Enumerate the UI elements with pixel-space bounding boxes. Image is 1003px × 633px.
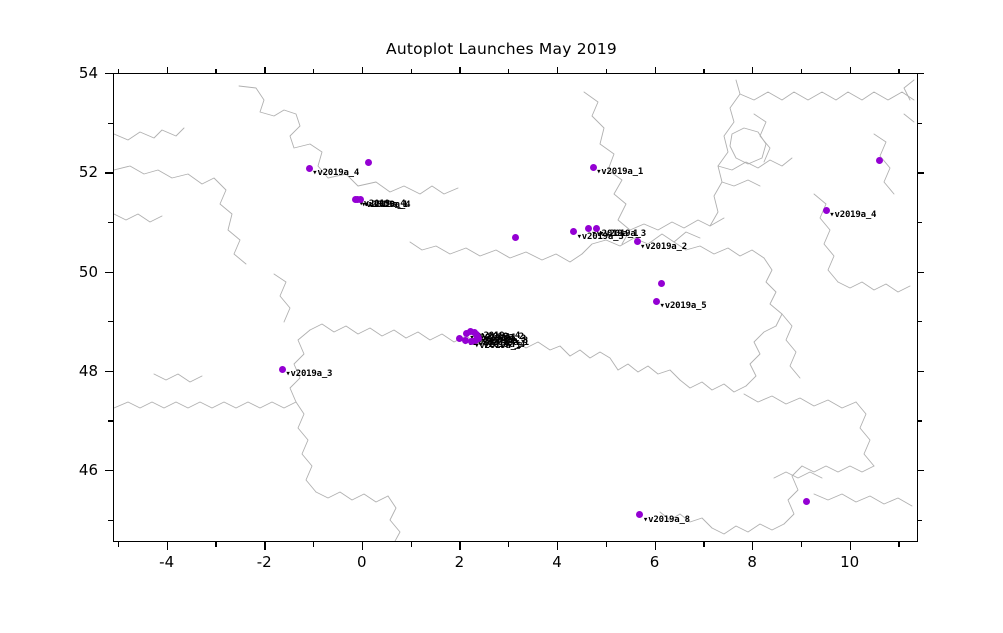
scatter-points-layer: ▾v2019a_4▾v2019a_4▾v2019a_1▾v2019a_4▾v20… xyxy=(114,74,918,542)
y-axis-minor-tick xyxy=(918,420,922,421)
scatter-point xyxy=(876,157,883,164)
x-axis-tick xyxy=(167,67,168,73)
x-axis-tick xyxy=(557,67,558,73)
x-axis-tick-label: 8 xyxy=(747,553,757,571)
y-axis-minor-tick xyxy=(108,123,113,124)
y-axis-tick xyxy=(918,371,924,372)
x-axis-tick-label: 6 xyxy=(650,553,660,571)
x-axis-tick-label: 10 xyxy=(840,553,859,571)
x-axis-tick xyxy=(557,542,558,550)
y-axis-tick xyxy=(105,172,113,173)
scatter-point-label: ▾v2019a_4 xyxy=(829,211,876,220)
y-axis-tick xyxy=(918,73,924,74)
y-axis-tick xyxy=(918,272,924,273)
y-axis-minor-tick xyxy=(918,520,922,521)
scatter-point xyxy=(462,337,469,344)
y-axis-minor-tick xyxy=(918,222,922,223)
x-axis-tick xyxy=(167,542,168,550)
scatter-point xyxy=(365,159,372,166)
x-axis-minor-tick xyxy=(801,69,802,73)
x-axis-tick xyxy=(850,542,851,550)
x-axis-tick-label: -4 xyxy=(159,553,174,571)
scatter-point-label: ▾v2019a_4 xyxy=(312,169,359,178)
scatter-point xyxy=(512,234,519,241)
scatter-point-label: ▾v2019a_1 xyxy=(474,342,521,351)
y-axis-tick-label: 50 xyxy=(0,263,98,281)
x-axis-tick xyxy=(655,67,656,73)
x-axis-tick xyxy=(459,67,460,73)
figure-canvas: Autoplot Launches May 2019 xyxy=(0,0,1003,633)
x-axis-minor-tick xyxy=(606,69,607,73)
y-axis-tick xyxy=(105,272,113,273)
scatter-point xyxy=(803,498,810,505)
x-axis-minor-tick xyxy=(703,69,704,73)
x-axis-tick xyxy=(752,67,753,73)
x-axis-minor-tick xyxy=(411,69,412,73)
x-axis-minor-tick xyxy=(313,542,314,547)
x-axis-minor-tick xyxy=(801,542,802,547)
x-axis-tick-label: -2 xyxy=(257,553,272,571)
x-axis-minor-tick xyxy=(703,542,704,547)
x-axis-minor-tick xyxy=(215,542,216,547)
y-axis-tick-label: 54 xyxy=(0,64,98,82)
x-axis-minor-tick xyxy=(606,542,607,547)
plot-area: ▾v2019a_4▾v2019a_4▾v2019a_1▾v2019a_4▾v20… xyxy=(113,73,918,542)
x-axis-tick-label: 2 xyxy=(455,553,465,571)
x-axis-minor-tick xyxy=(313,69,314,73)
y-axis-minor-tick xyxy=(108,222,113,223)
x-axis-minor-tick xyxy=(508,542,509,547)
x-axis-minor-tick xyxy=(118,542,119,547)
y-axis-tick-label: 52 xyxy=(0,163,98,181)
y-axis-tick xyxy=(105,371,113,372)
x-axis-tick xyxy=(264,67,265,73)
x-axis-tick-label: 4 xyxy=(552,553,562,571)
scatter-point-label: ▾v2019a_4 xyxy=(363,201,410,210)
x-axis-minor-tick xyxy=(898,542,899,547)
x-axis-tick xyxy=(752,542,753,550)
y-axis-tick xyxy=(105,470,113,471)
x-axis-tick xyxy=(655,542,656,550)
x-axis-minor-tick xyxy=(118,69,119,73)
y-axis-minor-tick xyxy=(108,321,113,322)
y-axis-tick-label: 48 xyxy=(0,362,98,380)
y-axis-minor-tick xyxy=(918,123,922,124)
y-axis-tick xyxy=(918,470,924,471)
scatter-point-label: ▾v2019a_5 xyxy=(660,302,707,311)
y-axis-minor-tick xyxy=(918,321,922,322)
y-axis-minor-tick xyxy=(108,520,113,521)
scatter-point-label: ▾v2019a_1 xyxy=(596,168,643,177)
x-axis-minor-tick xyxy=(508,69,509,73)
y-axis-tick xyxy=(918,172,924,173)
x-axis-tick xyxy=(362,67,363,73)
x-axis-tick xyxy=(264,542,265,550)
x-axis-tick xyxy=(362,542,363,550)
x-axis-tick xyxy=(850,67,851,73)
x-axis-tick xyxy=(459,542,460,550)
scatter-point-label: ▾v2019a_8 xyxy=(643,516,690,525)
y-axis-minor-tick xyxy=(108,420,113,421)
x-axis-minor-tick xyxy=(898,69,899,73)
scatter-point-label: ▾v2019a_2 xyxy=(640,243,687,252)
scatter-point xyxy=(658,280,665,287)
chart-title: Autoplot Launches May 2019 xyxy=(0,40,1003,58)
x-axis-tick-label: 0 xyxy=(357,553,367,571)
y-axis-tick-label: 46 xyxy=(0,461,98,479)
y-axis-tick xyxy=(105,73,113,74)
x-axis-minor-tick xyxy=(411,542,412,547)
x-axis-minor-tick xyxy=(215,69,216,73)
scatter-point-label: ▾v2019a_3 xyxy=(285,370,332,379)
